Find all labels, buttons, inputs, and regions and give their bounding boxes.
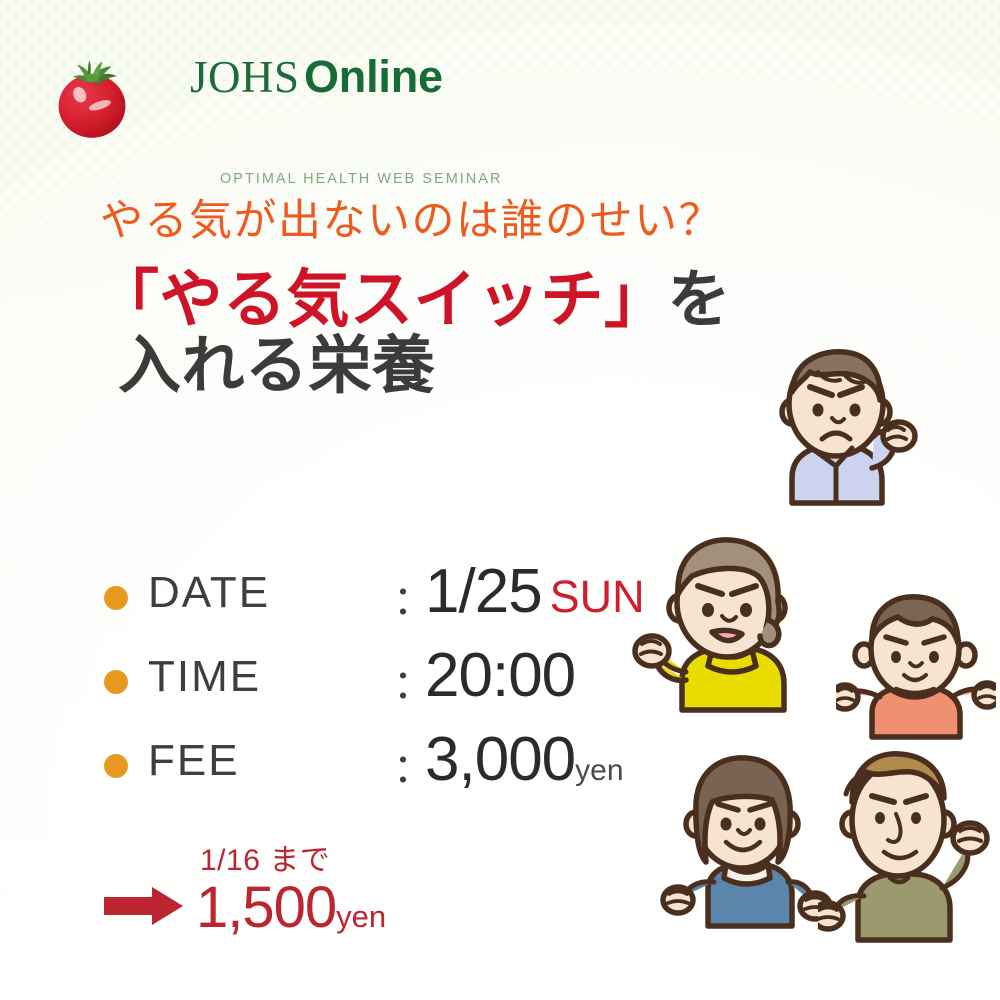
page-title: 「やる気スイッチ」を 入れる栄養: [96, 268, 731, 399]
early-bird-deadline: 1/16 まで: [200, 835, 330, 879]
illustration-man-flexing: [752, 338, 942, 528]
detail-label: TIME: [148, 652, 261, 702]
detail-value-text: 1/25: [425, 557, 542, 626]
early-bird-price-unit: yen: [336, 899, 386, 934]
right-arrow-icon: [104, 885, 184, 927]
poster-canvas: JOHS Online OPTIMAL HEALTH WEB SEMINAR や…: [0, 0, 1000, 1000]
bullet-icon: [104, 754, 128, 778]
bullet-icon: [104, 670, 128, 694]
detail-value: 20:00: [425, 640, 575, 711]
illustration-woman-overalls: [660, 740, 835, 940]
illustration-child-arms-up: [836, 585, 996, 745]
detail-value: 1/25SUN: [425, 556, 645, 627]
illustration-man-fist-up: [818, 740, 998, 950]
tomato-icon: [48, 56, 136, 144]
detail-value: 3,000yen: [425, 724, 624, 795]
title-particle: を: [668, 265, 732, 335]
brand-wordmark: JOHS Online: [190, 54, 443, 100]
brand-name-secondary: Online: [304, 51, 443, 102]
detail-value-text: 3,000: [425, 725, 575, 794]
subtitle-text: やる気が出ないのは誰のせい？: [100, 198, 723, 245]
brand-tagline: OPTIMAL HEALTH WEB SEMINAR: [220, 171, 502, 187]
title-line-2: 入れる栄養: [96, 334, 731, 400]
bullet-icon: [104, 586, 128, 610]
early-bird-price: 1,500yen: [196, 874, 386, 941]
early-bird-price-value: 1,500: [196, 875, 336, 940]
brand-name-primary: JOHS: [190, 52, 300, 102]
detail-value-text: 20:00: [425, 641, 575, 710]
detail-value-suffix: yen: [575, 754, 623, 787]
detail-label: FEE: [148, 736, 240, 786]
brand-logo[interactable]: JOHS Online OPTIMAL HEALTH WEB SEMINAR: [48, 52, 468, 152]
title-highlight: 「やる気スイッチ」: [96, 265, 668, 335]
illustration-woman-apron: [630, 520, 835, 730]
detail-label: DATE: [148, 568, 270, 618]
